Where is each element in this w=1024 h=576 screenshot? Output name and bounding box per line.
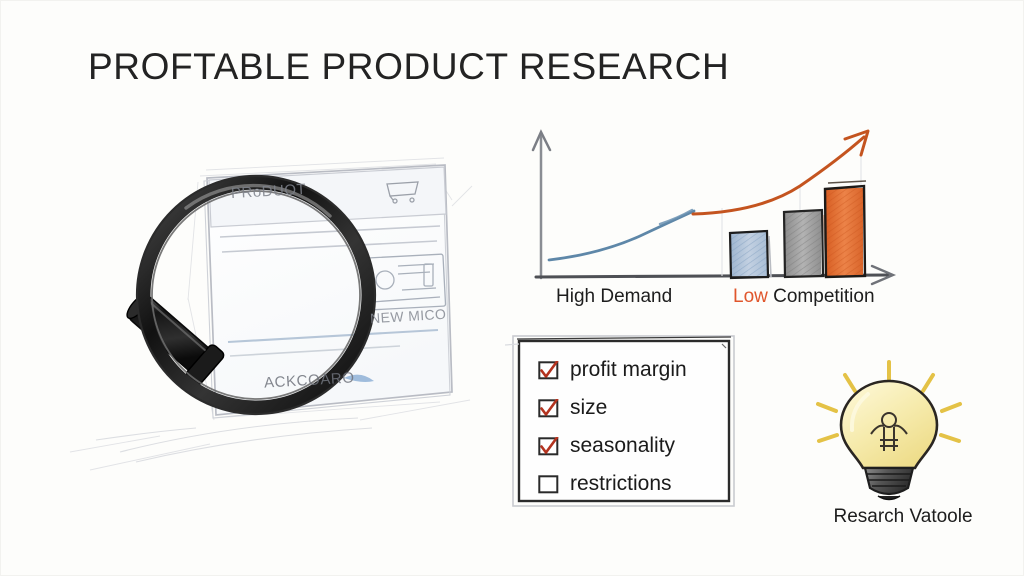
lightbulb-caption: Resarch Vatoole (818, 506, 988, 528)
bar-3 (825, 181, 866, 277)
chart-label-high-demand: High Demand (556, 286, 672, 308)
checkbox-checked-icon[interactable] (538, 437, 559, 456)
bar-1 (730, 231, 771, 278)
chart-label-competition: Competition (768, 286, 875, 307)
list-item[interactable]: seasonality (538, 430, 687, 462)
chart-label-low-competition: Low Competition (733, 286, 875, 308)
checkbox-empty-icon[interactable] (538, 475, 559, 494)
checkbox-checked-icon[interactable] (538, 361, 559, 380)
list-item-label: seasonality (570, 434, 675, 458)
bar-2 (784, 210, 826, 277)
y-axis (533, 132, 550, 278)
chart-label-low-accent: Low (733, 286, 768, 307)
research-idea-lightbulb (818, 362, 960, 500)
checkbox-checked-icon[interactable] (538, 399, 559, 418)
list-item[interactable]: restrictions (538, 468, 687, 500)
list-item[interactable]: size (538, 392, 687, 424)
demand-growth-curve (549, 210, 694, 260)
product-criteria-checklist[interactable]: profit margin size sea (516, 338, 732, 502)
checklist-rows: profit margin size sea (538, 354, 687, 500)
list-item-label: restrictions (570, 472, 672, 496)
list-item[interactable]: profit margin (538, 354, 687, 386)
sketch-canvas: PROFTABLE PRODUCT RESEARCH (0, 0, 1024, 576)
list-item-label: profit margin (570, 358, 687, 382)
list-item-label: size (570, 396, 607, 420)
growth-bar-chart (533, 131, 893, 284)
